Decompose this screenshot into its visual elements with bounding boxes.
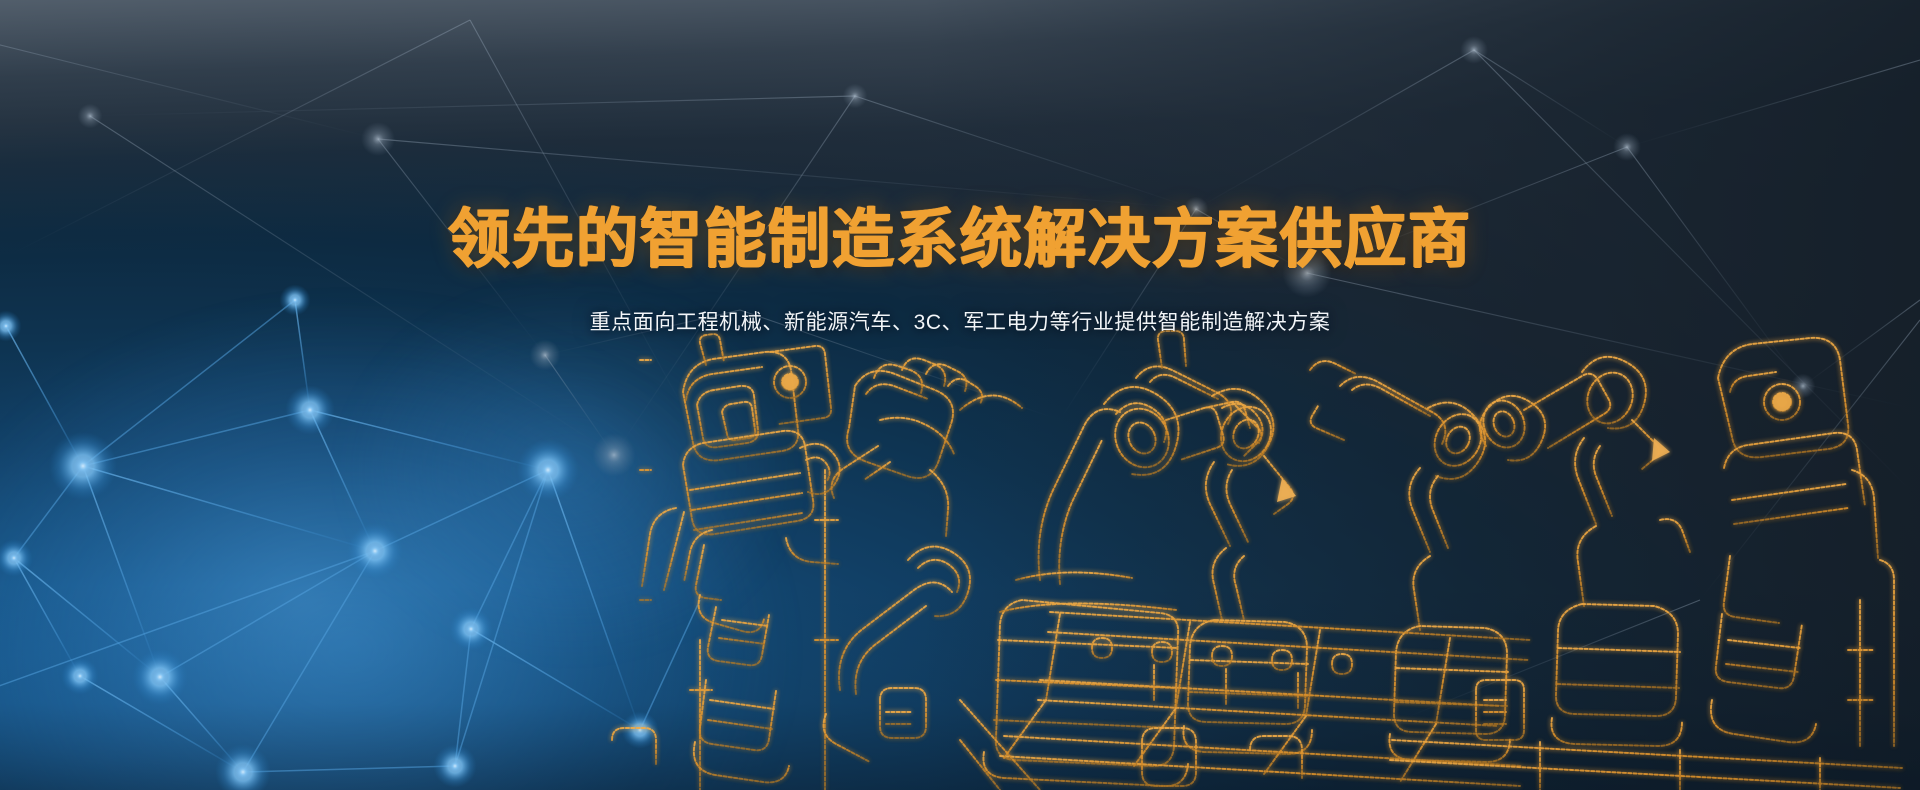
- factory-frame-left: [616, 352, 838, 790]
- hero-banner: 领先的智能制造系统解决方案供应商 重点面向工程机械、新能源汽车、3C、军工电力等…: [0, 0, 1920, 790]
- factory-frame-right: [1390, 560, 1902, 790]
- page-subtitle: 重点面向工程机械、新能源汽车、3C、军工电力等行业提供智能制造解决方案: [0, 307, 1920, 339]
- robot-head-far-right: [1711, 338, 1878, 743]
- page-title: 领先的智能制造系统解决方案供应商: [0, 205, 1920, 275]
- robot-sketch-strokes: [612, 331, 1902, 790]
- robot-arm-far-right: [1476, 357, 1682, 746]
- articulated-robot-arm-center: [983, 387, 1261, 786]
- articulated-robot-arm-center-left: [824, 358, 1022, 762]
- robot-line-art-illustration: [0, 0, 1920, 790]
- humanoid-robot-left: [642, 334, 840, 782]
- hero-copy-block: 领先的智能制造系统解决方案供应商 重点面向工程机械、新能源汽车、3C、军工电力等…: [0, 206, 1920, 338]
